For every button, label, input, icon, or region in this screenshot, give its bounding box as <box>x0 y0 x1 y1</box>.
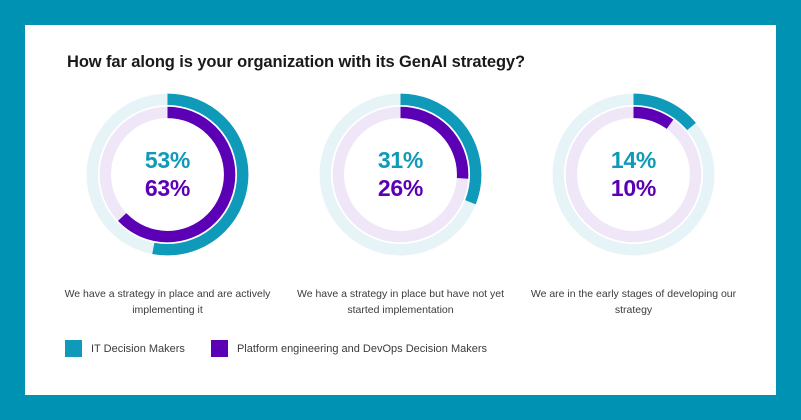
donut-chart-1: 31% 26% <box>313 87 488 262</box>
caption-0: We have a strategy in place and are acti… <box>55 287 280 319</box>
legend: IT Decision Makers Platform engineering … <box>65 340 513 357</box>
inner-track-2 <box>571 112 695 236</box>
donut-chart-2: 14% 10% <box>546 87 721 262</box>
donut-svg-0 <box>80 87 255 262</box>
captions-row: We have a strategy in place and are acti… <box>25 287 776 319</box>
page-title: How far along is your organization with … <box>67 53 525 72</box>
purple-swatch-icon <box>211 340 228 357</box>
legend-label-devops: Platform engineering and DevOps Decision… <box>237 343 487 355</box>
donut-chart-0: 53% 63% <box>80 87 255 262</box>
teal-border-frame: How far along is your organization with … <box>0 0 801 420</box>
caption-1: We have a strategy in place but have not… <box>288 287 513 319</box>
legend-item-devops: Platform engineering and DevOps Decision… <box>211 340 487 357</box>
donut-svg-2 <box>546 87 721 262</box>
teal-swatch-icon <box>65 340 82 357</box>
donut-group-0: 53% 63% <box>55 87 280 262</box>
donut-charts-row: 53% 63% 31% 26% <box>25 87 776 272</box>
chart-card: How far along is your organization with … <box>25 25 776 395</box>
donut-group-1: 31% 26% <box>288 87 513 262</box>
legend-label-it: IT Decision Makers <box>91 343 185 355</box>
legend-item-it: IT Decision Makers <box>65 340 185 357</box>
donut-svg-1 <box>313 87 488 262</box>
caption-2: We are in the early stages of developing… <box>521 287 746 319</box>
donut-group-2: 14% 10% <box>521 87 746 262</box>
